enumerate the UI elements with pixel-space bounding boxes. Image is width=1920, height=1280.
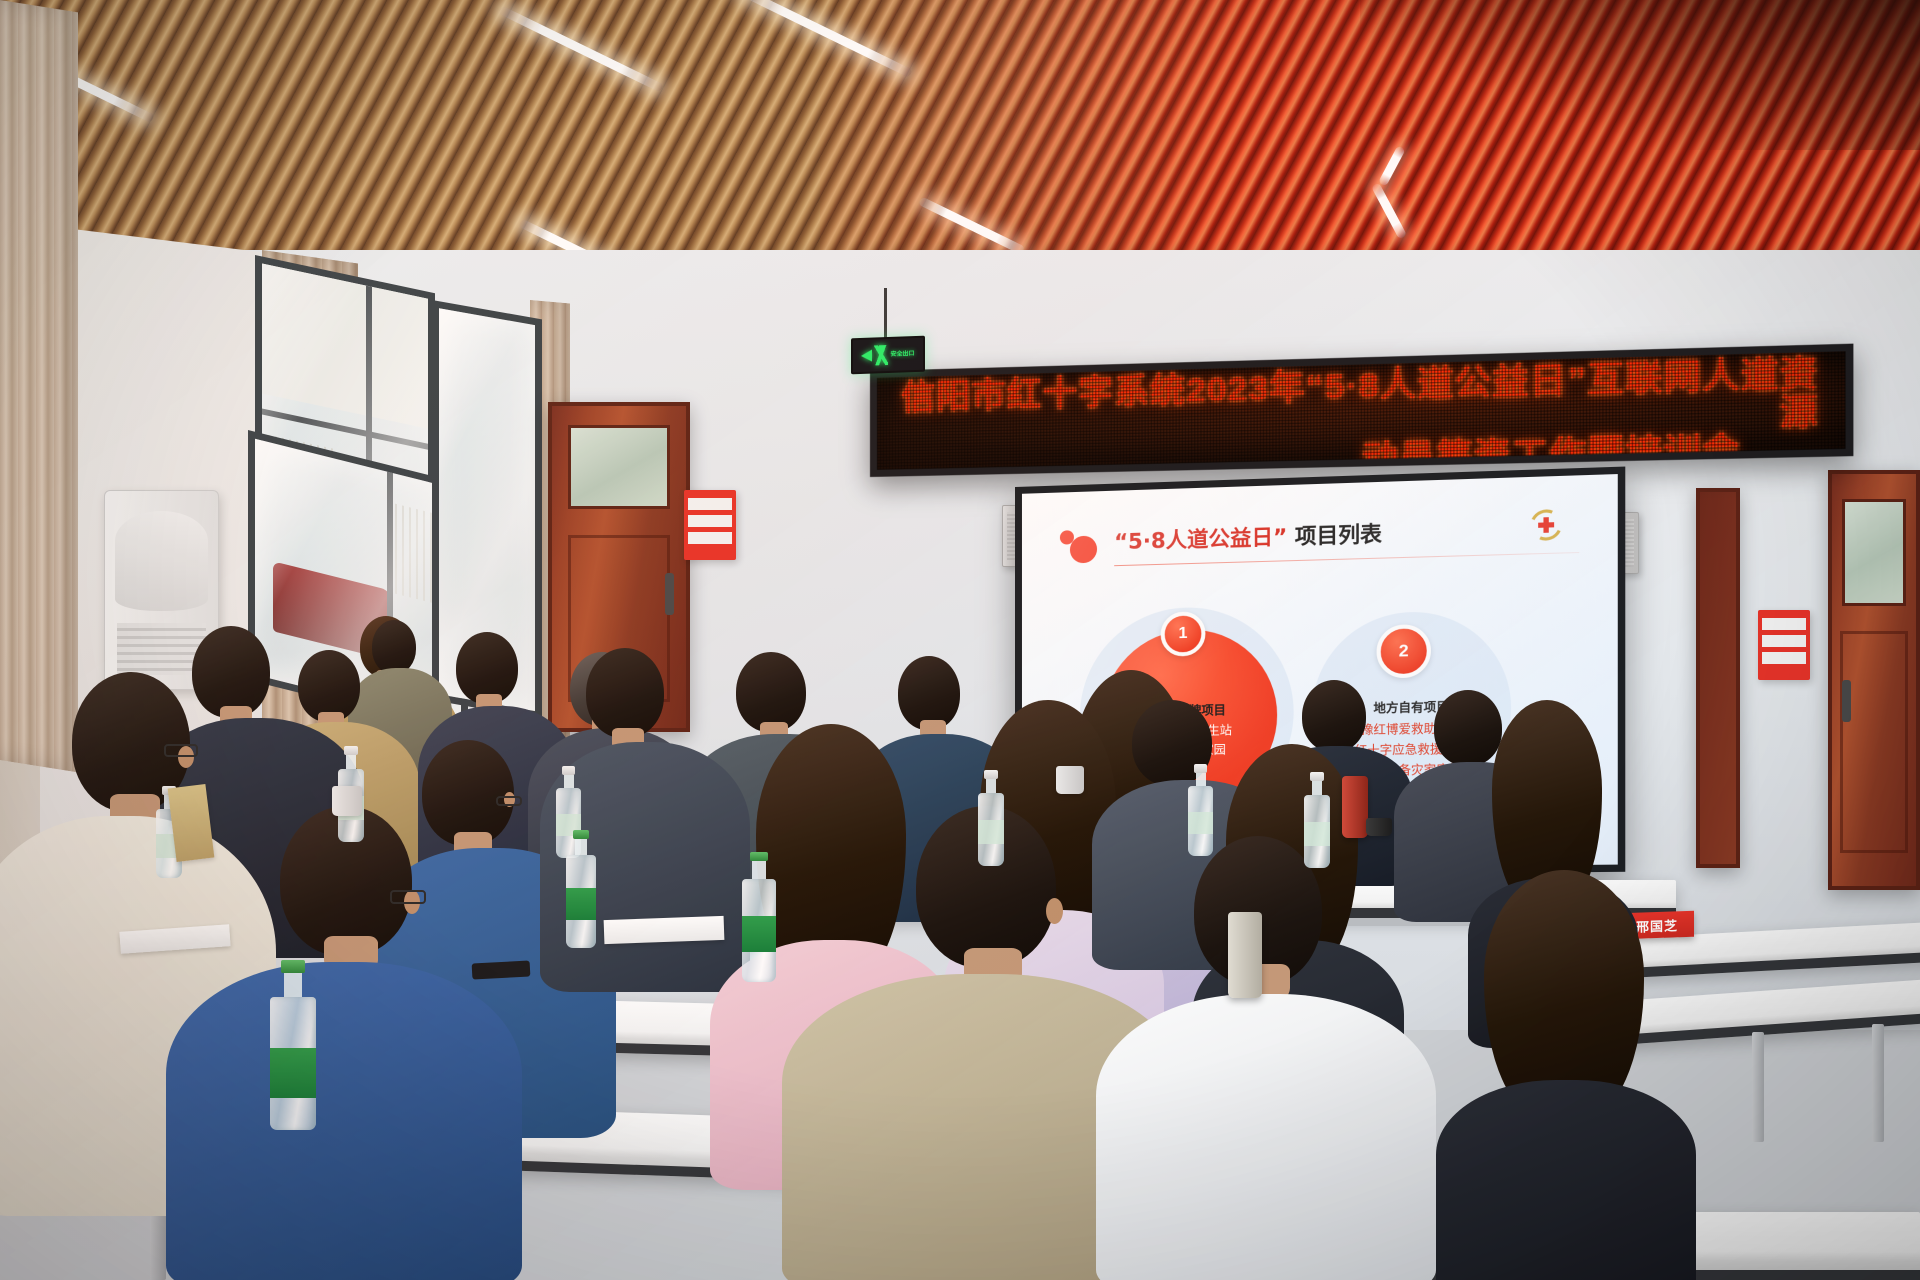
head [736,652,806,732]
bottle-label [1304,822,1330,846]
door-window-right [1842,499,1906,606]
desk-leg-right [1752,1032,1764,1142]
outside-building [262,263,428,428]
desk-leg-right-2 [1872,1024,1884,1142]
paper-cup-2 [1056,766,1084,794]
slide-title-rule [1114,552,1579,566]
water-bottle-9 [270,960,316,1130]
torso [1096,994,1436,1280]
door-handle-center[interactable] [665,573,674,615]
slide-title: “5·8人道公益日” 项目列表 [1114,518,1382,556]
bottle-neck [284,973,302,997]
bottle-cap [562,766,575,775]
bottle-neck [575,839,587,855]
glasses [164,744,198,757]
wall-plaque-left [684,490,736,560]
handout-paper-2 [604,916,725,944]
bottle-neck [1196,773,1206,786]
decor-dot-big [1070,536,1097,564]
bottle-neck [986,779,996,793]
slide-decor-dots [1060,529,1100,564]
head [1302,680,1366,752]
bottle-neck [564,775,574,788]
head [898,656,960,730]
water-bottle-4 [566,830,596,948]
head [586,648,664,738]
plaque-slot [1762,635,1806,647]
door-panel-right [1840,631,1907,853]
ceiling-shadow-right [1360,0,1920,150]
led-glow [877,351,1846,470]
water-bottle-6 [978,770,1004,866]
bottle-cap [573,830,589,839]
bottle-label [270,1048,316,1098]
bottle-cap [344,746,358,755]
running-person-icon [874,345,888,365]
plaque-slot [688,498,732,510]
water-bottle-7 [1188,764,1213,856]
conference-room-photo: 信阳市红十字系统2023年“5·8人道公益日”互联网人道资源 动员筹资工作暨培训… [0,0,1920,1280]
tumbler-right [1366,818,1392,836]
slide-title-quoted: “5·8人道公益日” [1114,525,1287,554]
plaque-slot [1762,618,1806,630]
glasses [390,890,426,904]
smartphone[interactable] [472,960,531,979]
door-right[interactable] [1828,470,1920,890]
bottle-cap [750,852,768,861]
bottle-label [742,916,776,952]
water-bottle-5 [742,852,776,982]
ac-display-panel [115,511,208,611]
exit-sign-mount [884,288,887,340]
bottle-cap [281,960,305,973]
red-cross-emblem-icon [1530,509,1562,541]
bottle-cap [1194,764,1207,773]
thermos-flask-2 [1228,912,1262,998]
ear [1046,898,1063,924]
bottle-cap [1310,772,1324,781]
slide-header: “5·8人道公益日” 项目列表 [1022,501,1618,578]
bottle-neck [752,861,766,879]
plaque-slot [688,532,732,544]
left-arrow-icon [861,350,872,362]
head [1434,690,1502,766]
plaque-slot [1762,652,1806,664]
door-handle-right[interactable] [1842,680,1851,722]
head [422,740,514,846]
exit-sign-label: 安全出口 [890,351,914,358]
paper-cup-1 [332,786,362,816]
door-right-far[interactable] [1696,488,1740,868]
wall-plaque-right [1758,610,1810,680]
door-window-center [568,425,670,509]
red-cross-icon [1538,517,1554,533]
slide-title-rest: 项目列表 [1287,522,1382,549]
thermos-flask [1342,776,1368,838]
ceiling-light-2 [498,5,664,92]
exit-sign: 安全出口 [851,336,925,375]
bottle-label [978,820,1004,844]
bottle-label [566,888,596,920]
bottle-neck [346,755,356,769]
glasses [496,796,522,806]
torso [1436,1080,1696,1280]
torso [166,962,522,1280]
bottle-label [1188,812,1213,834]
head [192,626,270,718]
bottle-cap [984,770,998,779]
bottle-neck [1312,781,1322,795]
water-bottle-8 [1304,772,1330,868]
plaque-slot [688,515,732,527]
head [372,620,416,674]
curtain-left-far [0,0,78,772]
